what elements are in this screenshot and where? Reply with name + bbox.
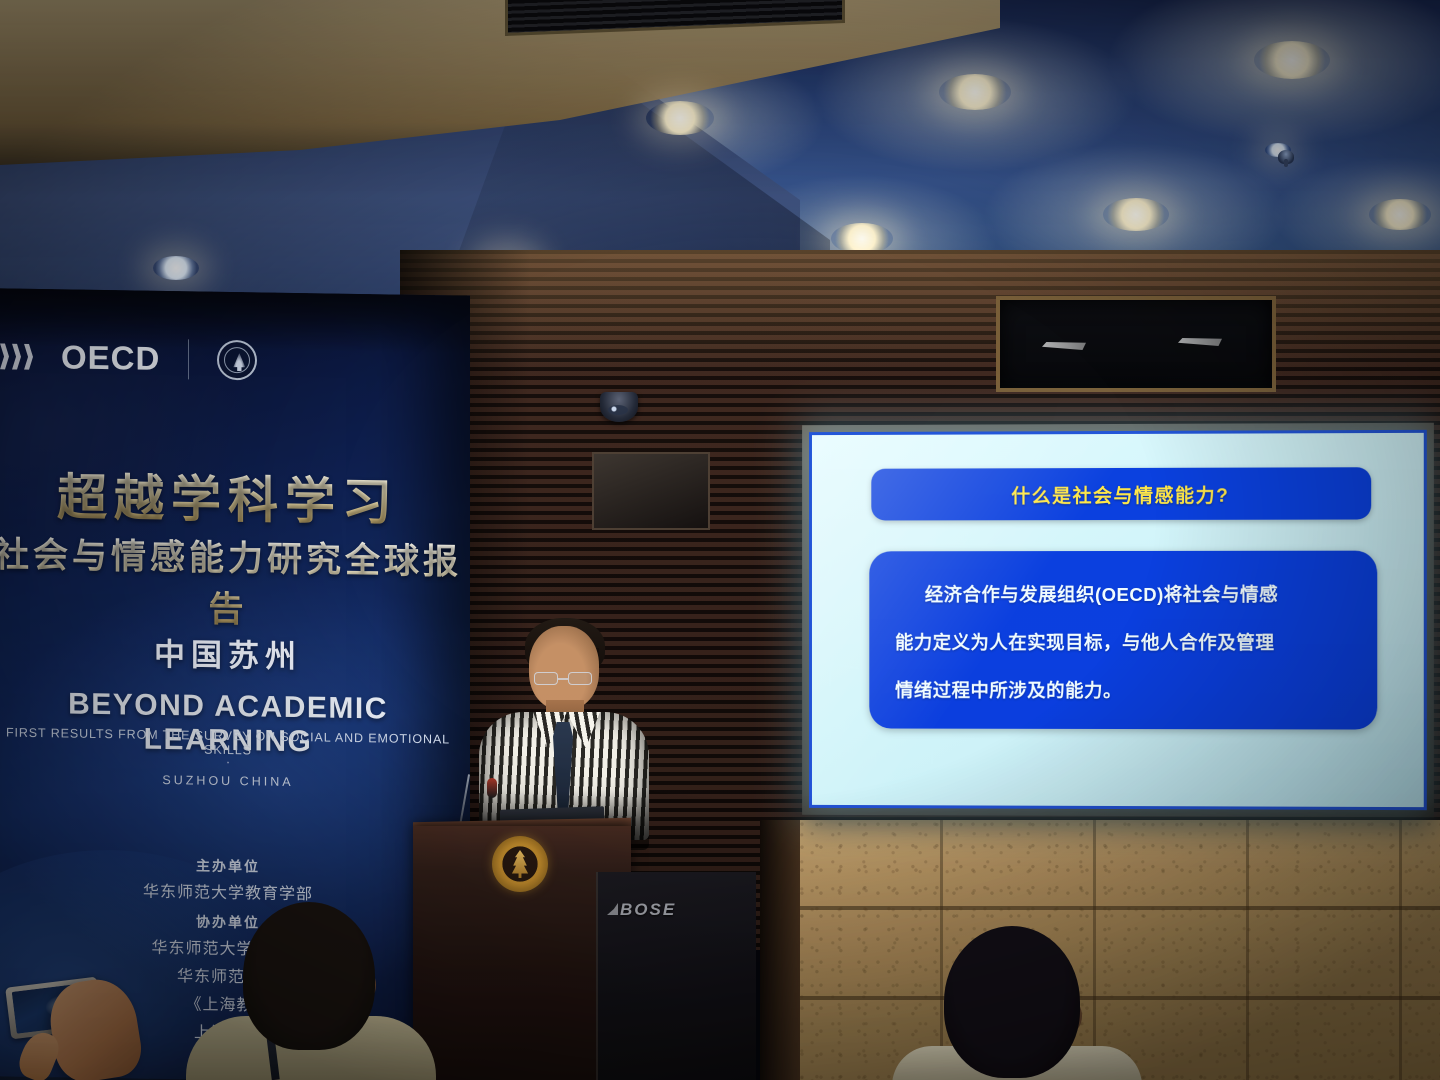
- ceiling-light-6: [1369, 199, 1431, 230]
- microphone-head-icon: [487, 778, 497, 798]
- presenter-head: [529, 626, 599, 710]
- stone-wall-edge: [760, 820, 800, 1080]
- ceiling-light-2: [939, 74, 1011, 110]
- ceiling-sprinkler-icon: [1278, 150, 1294, 164]
- presenter-glasses-icon: [532, 672, 596, 686]
- bose-logo-left-icon: [1042, 342, 1086, 350]
- slide-body-line-2: 能力定义为人在实现目标，与他人合作及管理: [895, 619, 1351, 667]
- dome-security-camera-icon: [600, 392, 638, 422]
- banner-title-cn-main: 超越学科学习: [0, 456, 470, 536]
- ceiling-light-1: [646, 101, 714, 135]
- upper-speaker-enclosure: [996, 296, 1276, 392]
- wood-wall-highlight: [400, 250, 1440, 370]
- slide-title-text: 什么是社会与情感能力?: [1011, 480, 1229, 508]
- ceiling-light-5: [1103, 198, 1169, 231]
- banner-title-cn-sub: 社会与情感能力研究全球报告: [0, 526, 470, 636]
- projection-screen-frame: 什么是社会与情感能力? 经济合作与发展组织(OECD)将社会与情感 能力定义为人…: [802, 423, 1434, 817]
- wall-recess-panel: [592, 452, 710, 530]
- slide-title-box: 什么是社会与情感能力?: [871, 467, 1371, 520]
- banner-city-en: SUZHOU CHINA: [0, 770, 470, 792]
- oecd-wordmark: OECD: [61, 338, 160, 378]
- ecnu-seal-icon: [217, 340, 257, 381]
- banner-logo-row: OECD: [0, 336, 257, 380]
- bose-logo-right-icon: [1178, 338, 1222, 346]
- event-backdrop-banner: OECD 超越学科学习 社会与情感能力研究全球报告 · 中国苏州 BEYOND …: [0, 288, 470, 1080]
- projection-screen[interactable]: 什么是社会与情感能力? 经济合作与发展组织(OECD)将社会与情感 能力定义为人…: [809, 430, 1427, 810]
- ceiling-light-4: [831, 223, 893, 254]
- slide-body-box: 经济合作与发展组织(OECD)将社会与情感 能力定义为人在实现目标，与他人合作及…: [869, 551, 1377, 730]
- conference-hall-photo: 什么是社会与情感能力? 经济合作与发展组织(OECD)将社会与情感 能力定义为人…: [0, 0, 1440, 1080]
- podium-university-emblem-icon: [492, 836, 548, 892]
- ceiling-light-8: [153, 256, 199, 280]
- ceiling-light-3: [1254, 41, 1330, 79]
- audience-member-right: [944, 926, 1080, 1078]
- stone-wall-texture: [790, 820, 1440, 1080]
- bose-logo-text: BOSE: [620, 900, 676, 920]
- oecd-chevron-icon: [0, 343, 33, 370]
- slide-body-line-3: 情绪过程中所涉及的能力。: [895, 667, 1351, 716]
- audience-member-left: [243, 902, 375, 1050]
- banner-city-cn: 中国苏州: [0, 626, 470, 679]
- slide-body-line-1: 经济合作与发展组织(OECD)将社会与情感: [895, 571, 1351, 619]
- logo-divider: [188, 339, 189, 379]
